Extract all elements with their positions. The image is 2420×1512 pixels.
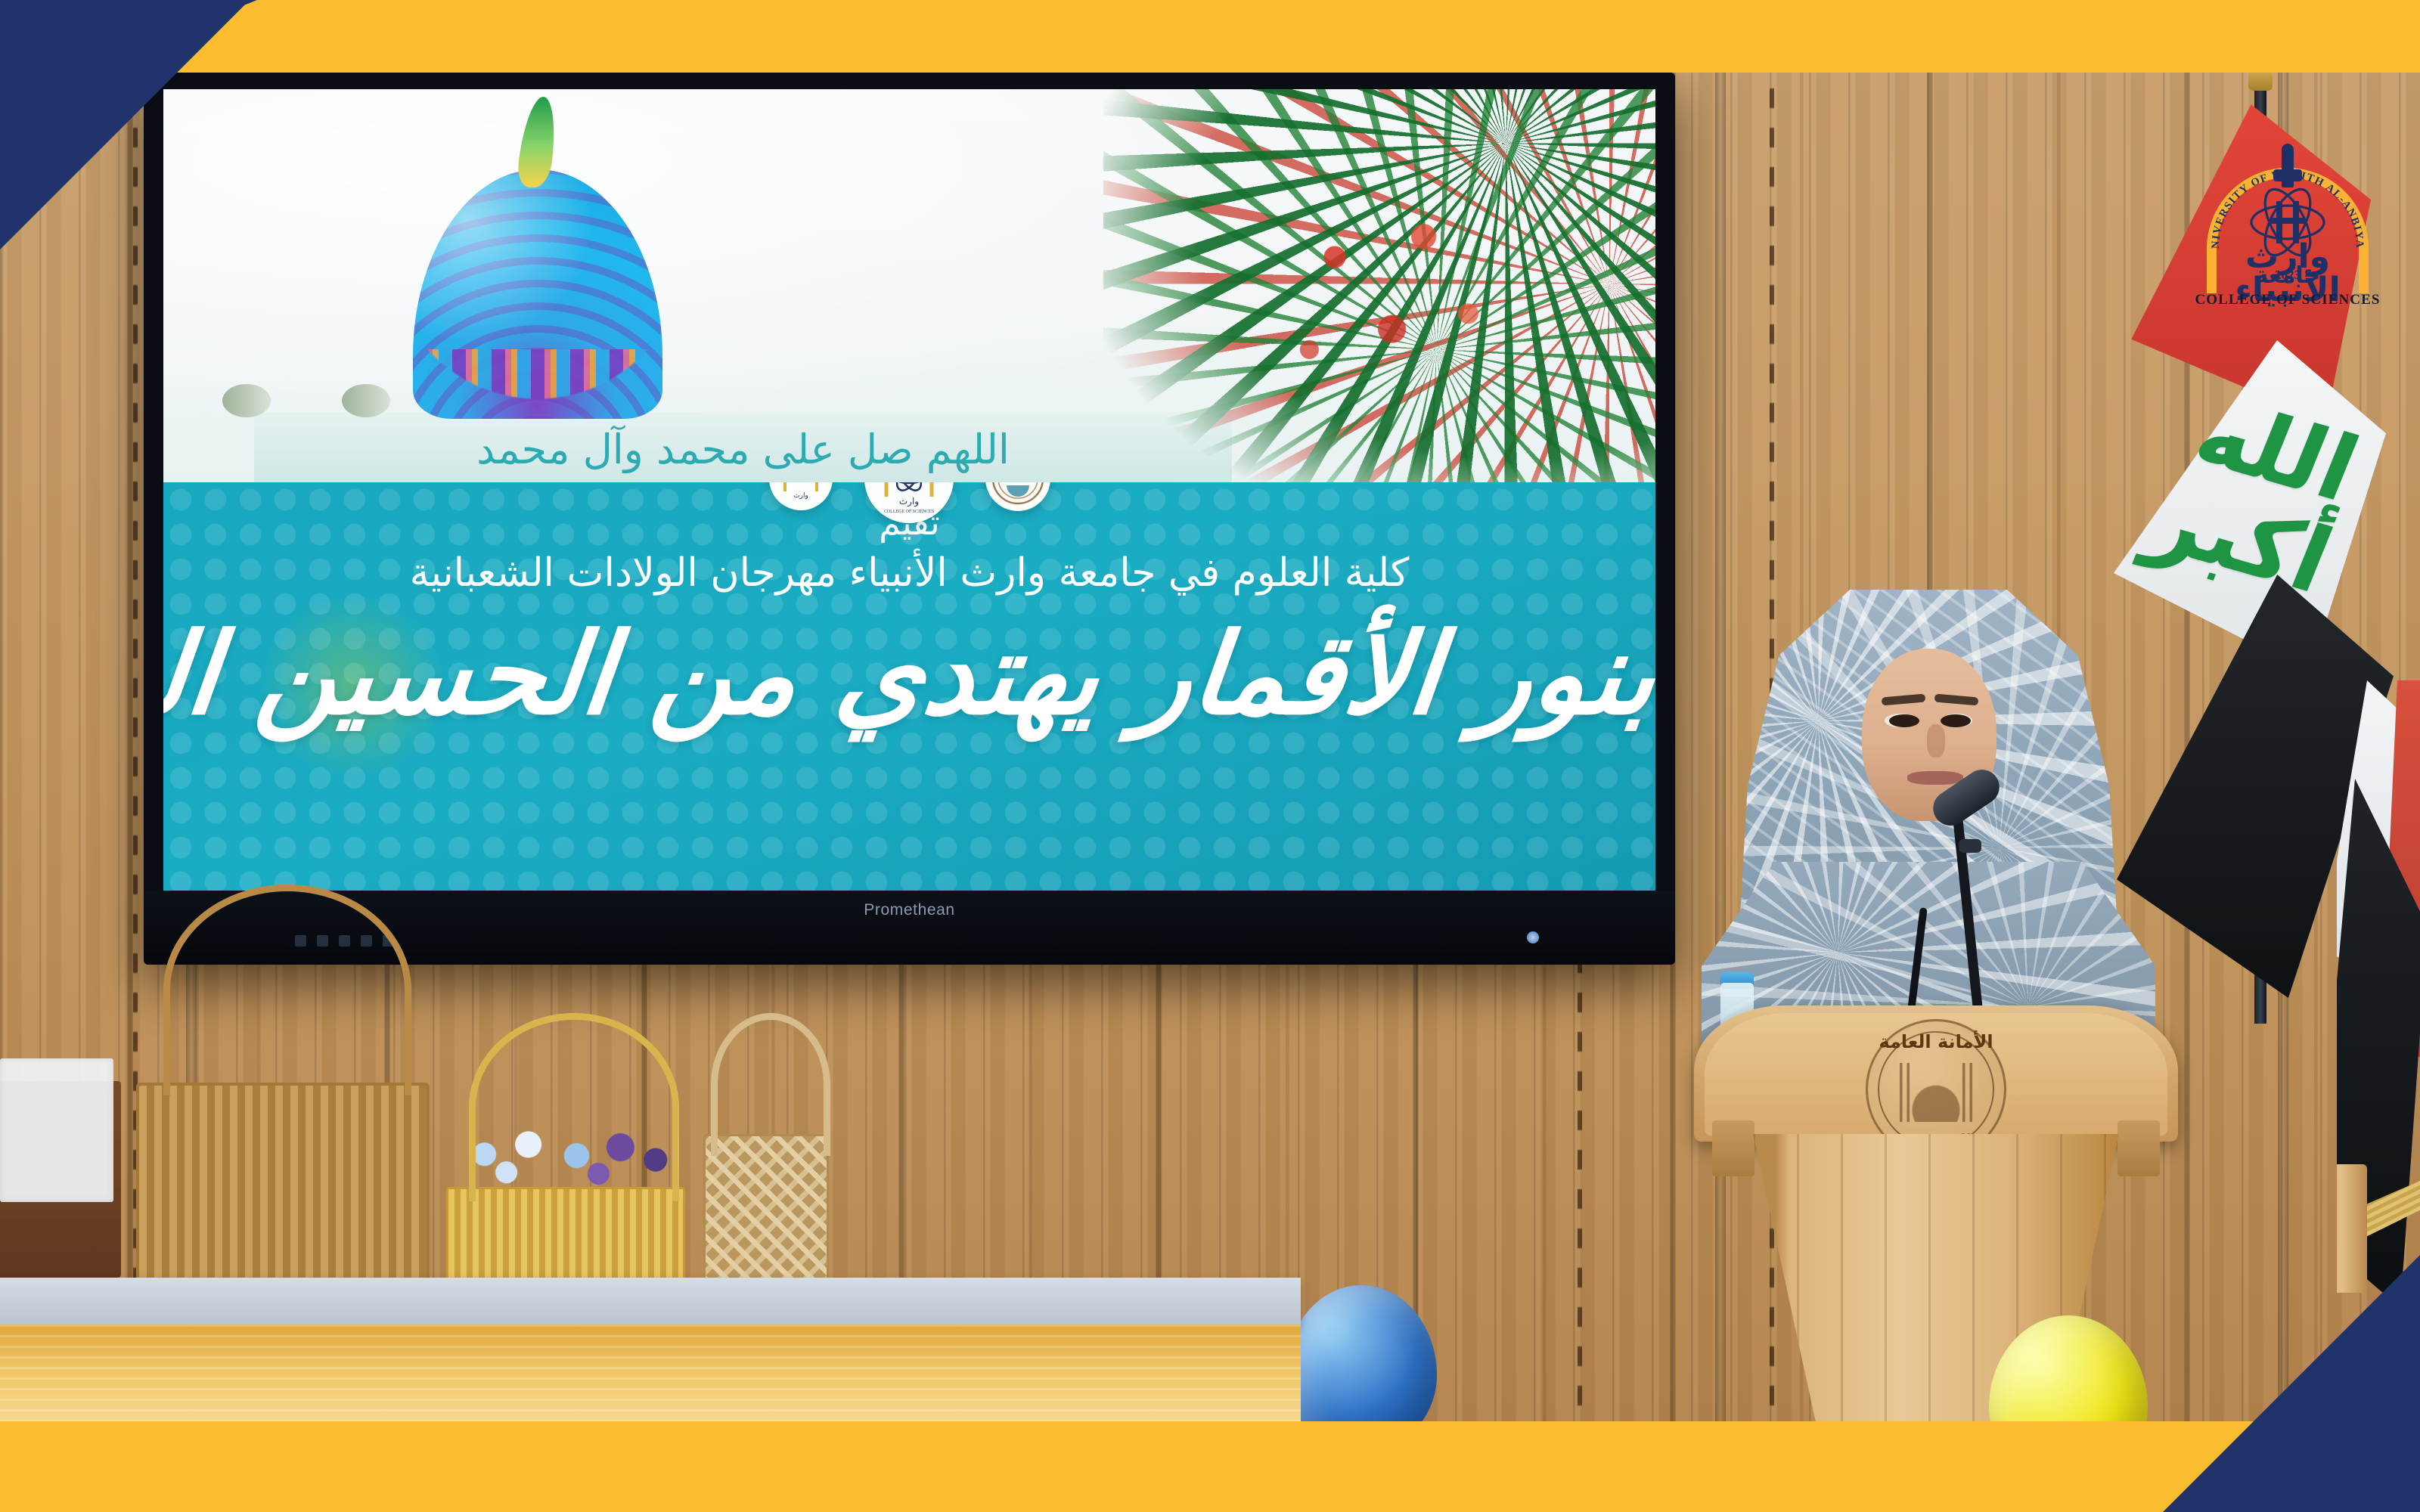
svg-text:وارث: وارث bbox=[793, 492, 808, 500]
shrine-banner-text: اللهم صل على محمد وآل محمد bbox=[277, 422, 1209, 478]
al-abbas-holy-shrine-seal bbox=[985, 482, 1050, 511]
gift-wrap-sheet bbox=[0, 1058, 113, 1202]
event-photograph: اللهم صل على محمد وآل محمد وار bbox=[0, 0, 2420, 1512]
promethean-interactive-display: اللهم صل على محمد وآل محمد وار bbox=[144, 73, 1675, 965]
warith-al-anbiyaa-university-seal: وارث bbox=[769, 482, 833, 510]
photo-banner: اللهم صل على محمد وآل محمد وار bbox=[0, 0, 2420, 1512]
table-calligraphy-trim bbox=[0, 1421, 1301, 1512]
display-screen: اللهم صل على محمد وآل محمد وار bbox=[163, 89, 1655, 891]
power-led-icon bbox=[1527, 931, 1539, 943]
red-blossoms bbox=[1239, 180, 1557, 437]
college-of-sciences-logo: UNIVERSITY OF WARITH AL-ANBIYAA وارث الأ… bbox=[2193, 144, 2382, 318]
nose bbox=[1927, 724, 1945, 758]
slide-title: بنور الأقمار يهتدي من الحسين الى المهدي bbox=[163, 615, 1655, 733]
slide-text-region: وارث وارث COLLEGE OF SCIENC bbox=[163, 482, 1655, 891]
secondary-flag bbox=[2337, 680, 2420, 1300]
tall-wicker-basket bbox=[136, 1083, 430, 1287]
shrine-minarets-icon bbox=[1891, 1063, 1981, 1122]
flag-stand bbox=[2337, 1164, 2367, 1293]
svg-text:وارث: وارث bbox=[898, 496, 918, 507]
microphone-clamp bbox=[1959, 839, 1981, 853]
display-shelf bbox=[0, 1278, 1301, 1326]
loudspeaker-horn bbox=[342, 384, 390, 417]
emblem-top-text: الأمانة العامة bbox=[1866, 1031, 2006, 1052]
lattice-basket-handle bbox=[711, 1013, 830, 1156]
slide-photo-region: اللهم صل على محمد وآل محمد bbox=[163, 89, 1655, 482]
basket-handle bbox=[163, 885, 411, 1095]
balloon-yellow bbox=[1989, 1315, 2148, 1486]
woven-lattice-basket bbox=[703, 1134, 829, 1285]
slide-logo-row: وارث وارث COLLEGE OF SCIENC bbox=[163, 482, 1655, 523]
female-speaker-at-podium bbox=[1732, 590, 2125, 1058]
podium-front-panel: الأمانة العامة المقدسة bbox=[1694, 1005, 2178, 1142]
eyebrow bbox=[1882, 693, 1926, 705]
promethean-brand-label: Promethean bbox=[864, 901, 954, 919]
mosque-dome-tilework bbox=[413, 349, 662, 419]
balloon-blue bbox=[1286, 1285, 1437, 1452]
podium-side-block bbox=[2117, 1120, 2160, 1176]
eye bbox=[1889, 714, 1919, 727]
college-of-sciences-seal: وارث COLLEGE OF SCIENCES bbox=[864, 482, 954, 523]
flag-pole-finial-icon bbox=[2248, 65, 2273, 91]
mouth bbox=[1907, 771, 1963, 785]
eye bbox=[1941, 714, 1971, 727]
podium-side-block bbox=[1712, 1120, 1754, 1176]
loudspeaker-horn bbox=[222, 384, 271, 417]
logo-year: 2023 bbox=[2275, 268, 2301, 283]
logo-english-text: COLLEGE OF SCIENCES bbox=[2193, 292, 2382, 308]
eyebrow bbox=[1934, 693, 1979, 705]
gold-basket-handle bbox=[469, 1013, 679, 1201]
svg-text:COLLEGE OF SCIENCES: COLLEGE OF SCIENCES bbox=[883, 510, 933, 514]
